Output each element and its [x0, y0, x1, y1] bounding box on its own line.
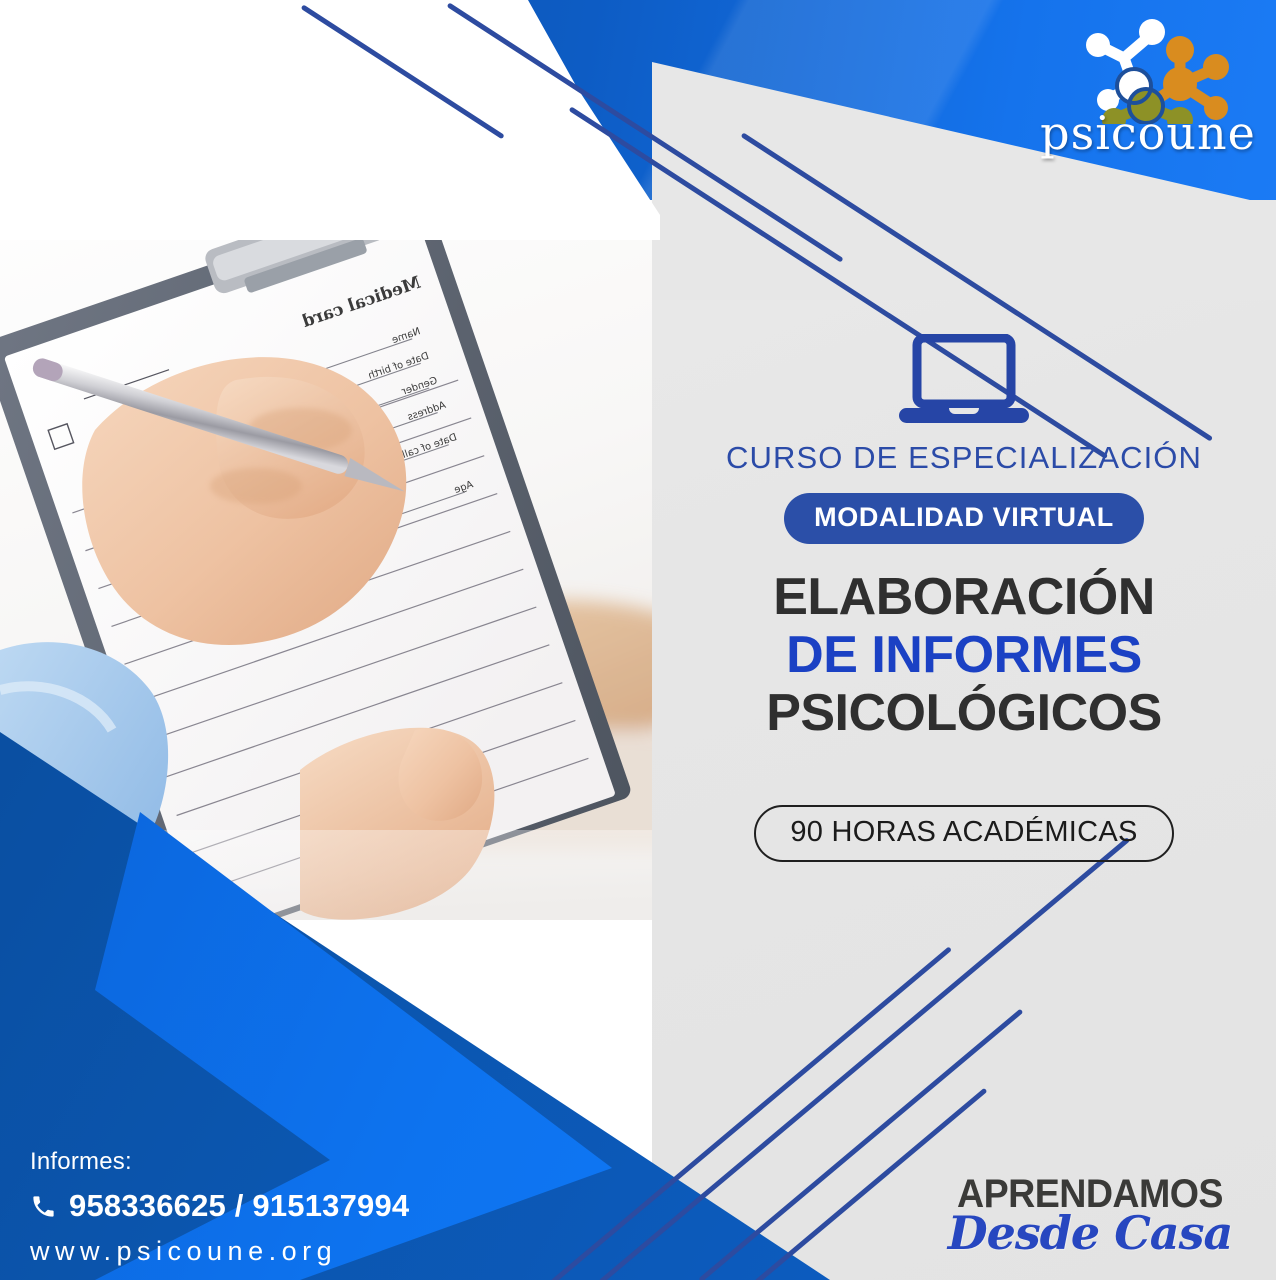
- course-title: ELABORACIÓN DE INFORMES PSICOLÓGICOS: [652, 568, 1276, 743]
- title-line-1: ELABORACIÓN: [652, 568, 1276, 626]
- slogan-block: APRENDAMOS Desde Casa: [930, 1172, 1250, 1272]
- phone-icon: [30, 1193, 57, 1220]
- phone-numbers: 958336625 / 915137994: [69, 1188, 409, 1224]
- slogan-line-2: Desde Casa: [930, 1206, 1250, 1260]
- website-url[interactable]: www.psicoune.org: [30, 1236, 450, 1267]
- course-kicker: CURSO DE ESPECIALIZACIÓN: [652, 440, 1276, 476]
- hours-pill-wrap: 90 HORAS ACADÉMICAS: [652, 805, 1276, 862]
- laptop-icon-wrap: [652, 334, 1276, 426]
- contact-block: Informes: 958336625 / 915137994 www.psic…: [30, 1148, 450, 1267]
- title-line-3: PSICOLÓGICOS: [652, 684, 1276, 742]
- academic-hours-pill: 90 HORAS ACADÉMICAS: [754, 805, 1173, 862]
- promo-content: CURSO DE ESPECIALIZACIÓN MODALIDAD VIRTU…: [652, 0, 1276, 1280]
- modality-badge: MODALIDAD VIRTUAL: [784, 493, 1144, 544]
- title-line-2: DE INFORMES: [652, 626, 1276, 684]
- laptop-icon: [899, 334, 1029, 426]
- contact-label: Informes:: [30, 1148, 450, 1176]
- promo-poster: Medical card Name Date of birth Gender A…: [0, 0, 1276, 1280]
- phone-row[interactable]: 958336625 / 915137994: [30, 1188, 450, 1224]
- modality-badge-wrap: MODALIDAD VIRTUAL: [652, 493, 1276, 544]
